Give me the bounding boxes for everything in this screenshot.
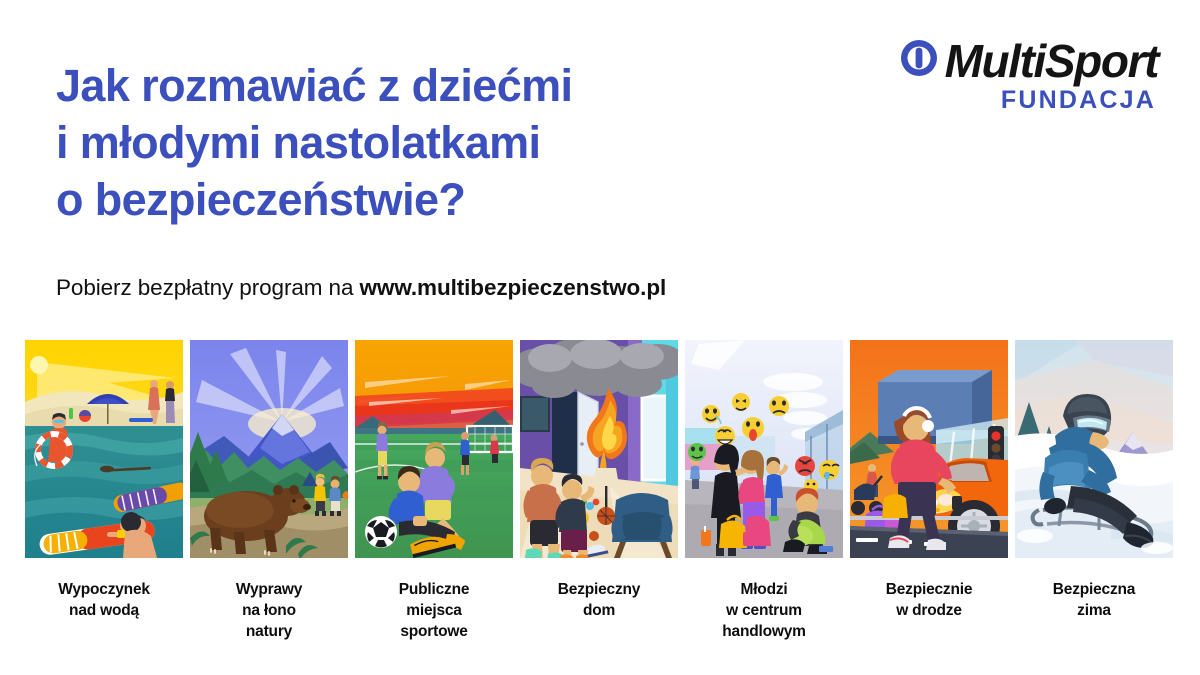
program-url[interactable]: www.multibezpieczenstwo.pl	[360, 275, 667, 300]
download-subline: Pobierz bezpłatny program na www.multibe…	[56, 275, 666, 301]
card-caption: Bezpiecznie w drodze	[850, 580, 1008, 622]
illustration-football-pitch-injury	[355, 340, 513, 558]
illustration-mountain-forest-bear	[190, 340, 348, 558]
card-caption: Wypoczynek nad wodą	[25, 580, 183, 622]
topic-card-row: Wypoczynek nad wodą	[25, 340, 1177, 643]
illustration-road-crossing-car	[850, 340, 1008, 558]
card-caption: Młodzi w centrum handlowym	[685, 580, 843, 643]
page-title: Jak rozmawiać z dziećmi i młodymi nastol…	[56, 57, 572, 228]
topic-card-road[interactable]: Bezpiecznie w drodze	[850, 340, 1008, 643]
topic-card-sports[interactable]: Publiczne miejsca sportowe	[355, 340, 513, 643]
illustration-house-fire-escape	[520, 340, 678, 558]
topic-card-home[interactable]: Bezpieczny dom	[520, 340, 678, 643]
subline-prefix: Pobierz bezpłatny program na	[56, 275, 360, 300]
illustration-beach-water-recreation	[25, 340, 183, 558]
card-caption: Bezpieczny dom	[520, 580, 678, 622]
topic-card-nature[interactable]: Wyprawy na łono natury	[190, 340, 348, 643]
multisport-circle-icon	[900, 39, 938, 77]
topic-card-water[interactable]: Wypoczynek nad wodą	[25, 340, 183, 643]
illustration-winter-sledding	[1015, 340, 1173, 558]
topic-card-winter[interactable]: Bezpieczna zima	[1015, 340, 1173, 643]
logo-wordmark: MultiSport	[945, 38, 1158, 84]
brand-logo: MultiSport FUNDACJA	[838, 38, 1158, 113]
card-caption: Wyprawy na łono natury	[190, 580, 348, 643]
logo-row: MultiSport	[838, 38, 1158, 84]
card-caption: Bezpieczna zima	[1015, 580, 1173, 622]
card-caption: Publiczne miejsca sportowe	[355, 580, 513, 643]
poster-root: Jak rozmawiać z dziećmi i młodymi nastol…	[0, 0, 1200, 675]
topic-card-mall[interactable]: Młodzi w centrum handlowym	[685, 340, 843, 643]
logo-subtitle: FUNDACJA	[838, 88, 1158, 113]
illustration-shopping-mall-bullying-emojis	[685, 340, 843, 558]
